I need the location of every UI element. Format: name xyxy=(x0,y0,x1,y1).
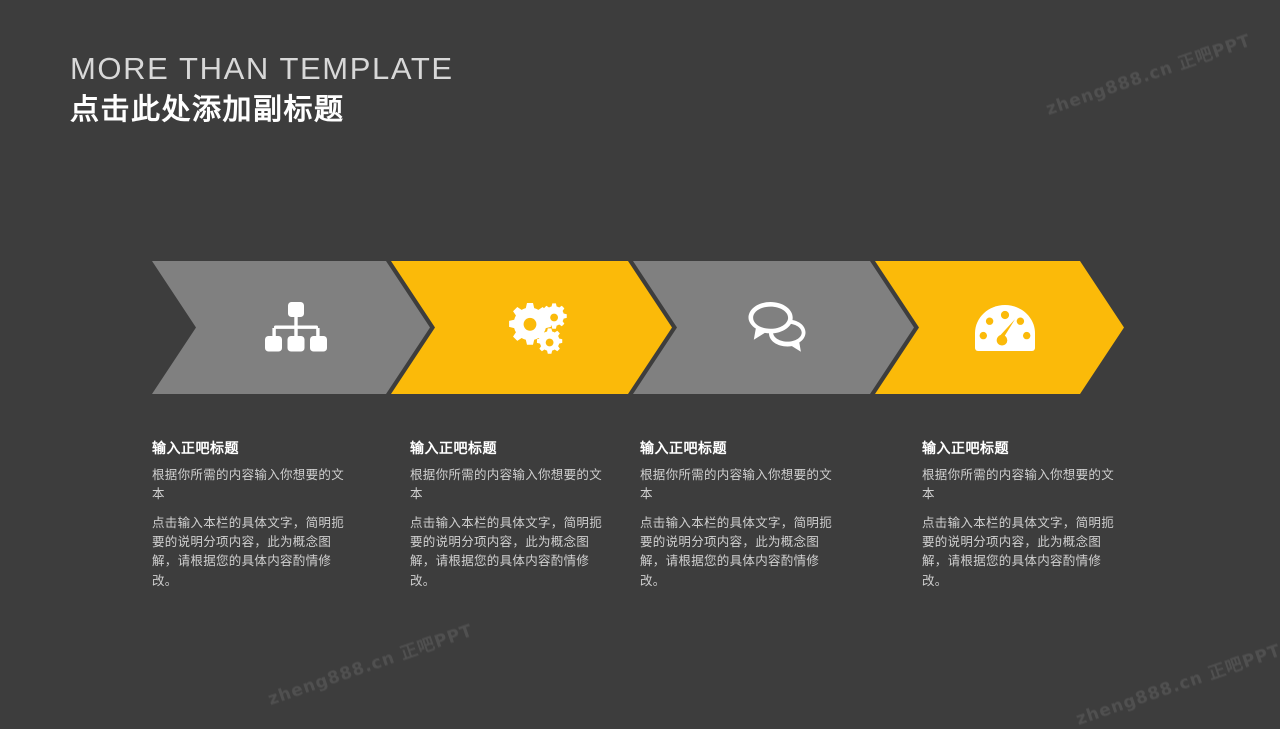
step-paragraph-1: 根据你所需的内容输入你想要的文本 xyxy=(410,466,610,505)
page-subtitle-chinese: 点击此处添加副标题 xyxy=(70,94,454,126)
step-paragraph-1: 根据你所需的内容输入你想要的文本 xyxy=(152,466,352,505)
slide-header: MORE THAN TEMPLATE 点击此处添加副标题 xyxy=(70,52,454,126)
step-column-3: 输入正吧标题 根据你所需的内容输入你想要的文本 点击输入本栏的具体文字，简明扼要… xyxy=(640,440,840,591)
step-paragraph-2: 点击输入本栏的具体文字，简明扼要的说明分项内容，此为概念图解，请根据您的具体内容… xyxy=(922,514,1122,592)
step-descriptions: 输入正吧标题 根据你所需的内容输入你想要的文本 点击输入本栏的具体文字，简明扼要… xyxy=(0,440,1280,630)
step-heading: 输入正吧标题 xyxy=(410,440,610,457)
speech-bubbles-icon xyxy=(739,292,819,364)
step-paragraph-2: 点击输入本栏的具体文字，简明扼要的说明分项内容，此为概念图解，请根据您的具体内容… xyxy=(640,514,840,592)
gauge-icon xyxy=(965,292,1045,364)
step-column-2: 输入正吧标题 根据你所需的内容输入你想要的文本 点击输入本栏的具体文字，简明扼要… xyxy=(410,440,610,591)
page-title-english: MORE THAN TEMPLATE xyxy=(70,52,454,87)
step-paragraph-2: 点击输入本栏的具体文字，简明扼要的说明分项内容，此为概念图解，请根据您的具体内容… xyxy=(152,514,352,592)
watermark-bottom-right: zheng888.cn 正吧PPT xyxy=(1072,636,1280,729)
step-paragraph-2: 点击输入本栏的具体文字，简明扼要的说明分项内容，此为概念图解，请根据您的具体内容… xyxy=(410,514,610,592)
sitemap-icon xyxy=(256,292,336,364)
chevron-step-1[interactable] xyxy=(152,261,430,394)
step-paragraph-1: 根据你所需的内容输入你想要的文本 xyxy=(922,466,1122,505)
step-column-1: 输入正吧标题 根据你所需的内容输入你想要的文本 点击输入本栏的具体文字，简明扼要… xyxy=(152,440,352,591)
step-column-4: 输入正吧标题 根据你所需的内容输入你想要的文本 点击输入本栏的具体文字，简明扼要… xyxy=(922,440,1122,591)
step-paragraph-1: 根据你所需的内容输入你想要的文本 xyxy=(640,466,840,505)
gears-icon xyxy=(497,292,577,364)
chevron-step-2[interactable] xyxy=(391,261,672,394)
step-heading: 输入正吧标题 xyxy=(922,440,1122,457)
step-heading: 输入正吧标题 xyxy=(640,440,840,457)
watermark-top-right: zheng888.cn 正吧PPT xyxy=(1042,26,1254,120)
step-heading: 输入正吧标题 xyxy=(152,440,352,457)
process-chevron-band xyxy=(152,261,1124,394)
chevron-step-3[interactable] xyxy=(633,261,914,394)
